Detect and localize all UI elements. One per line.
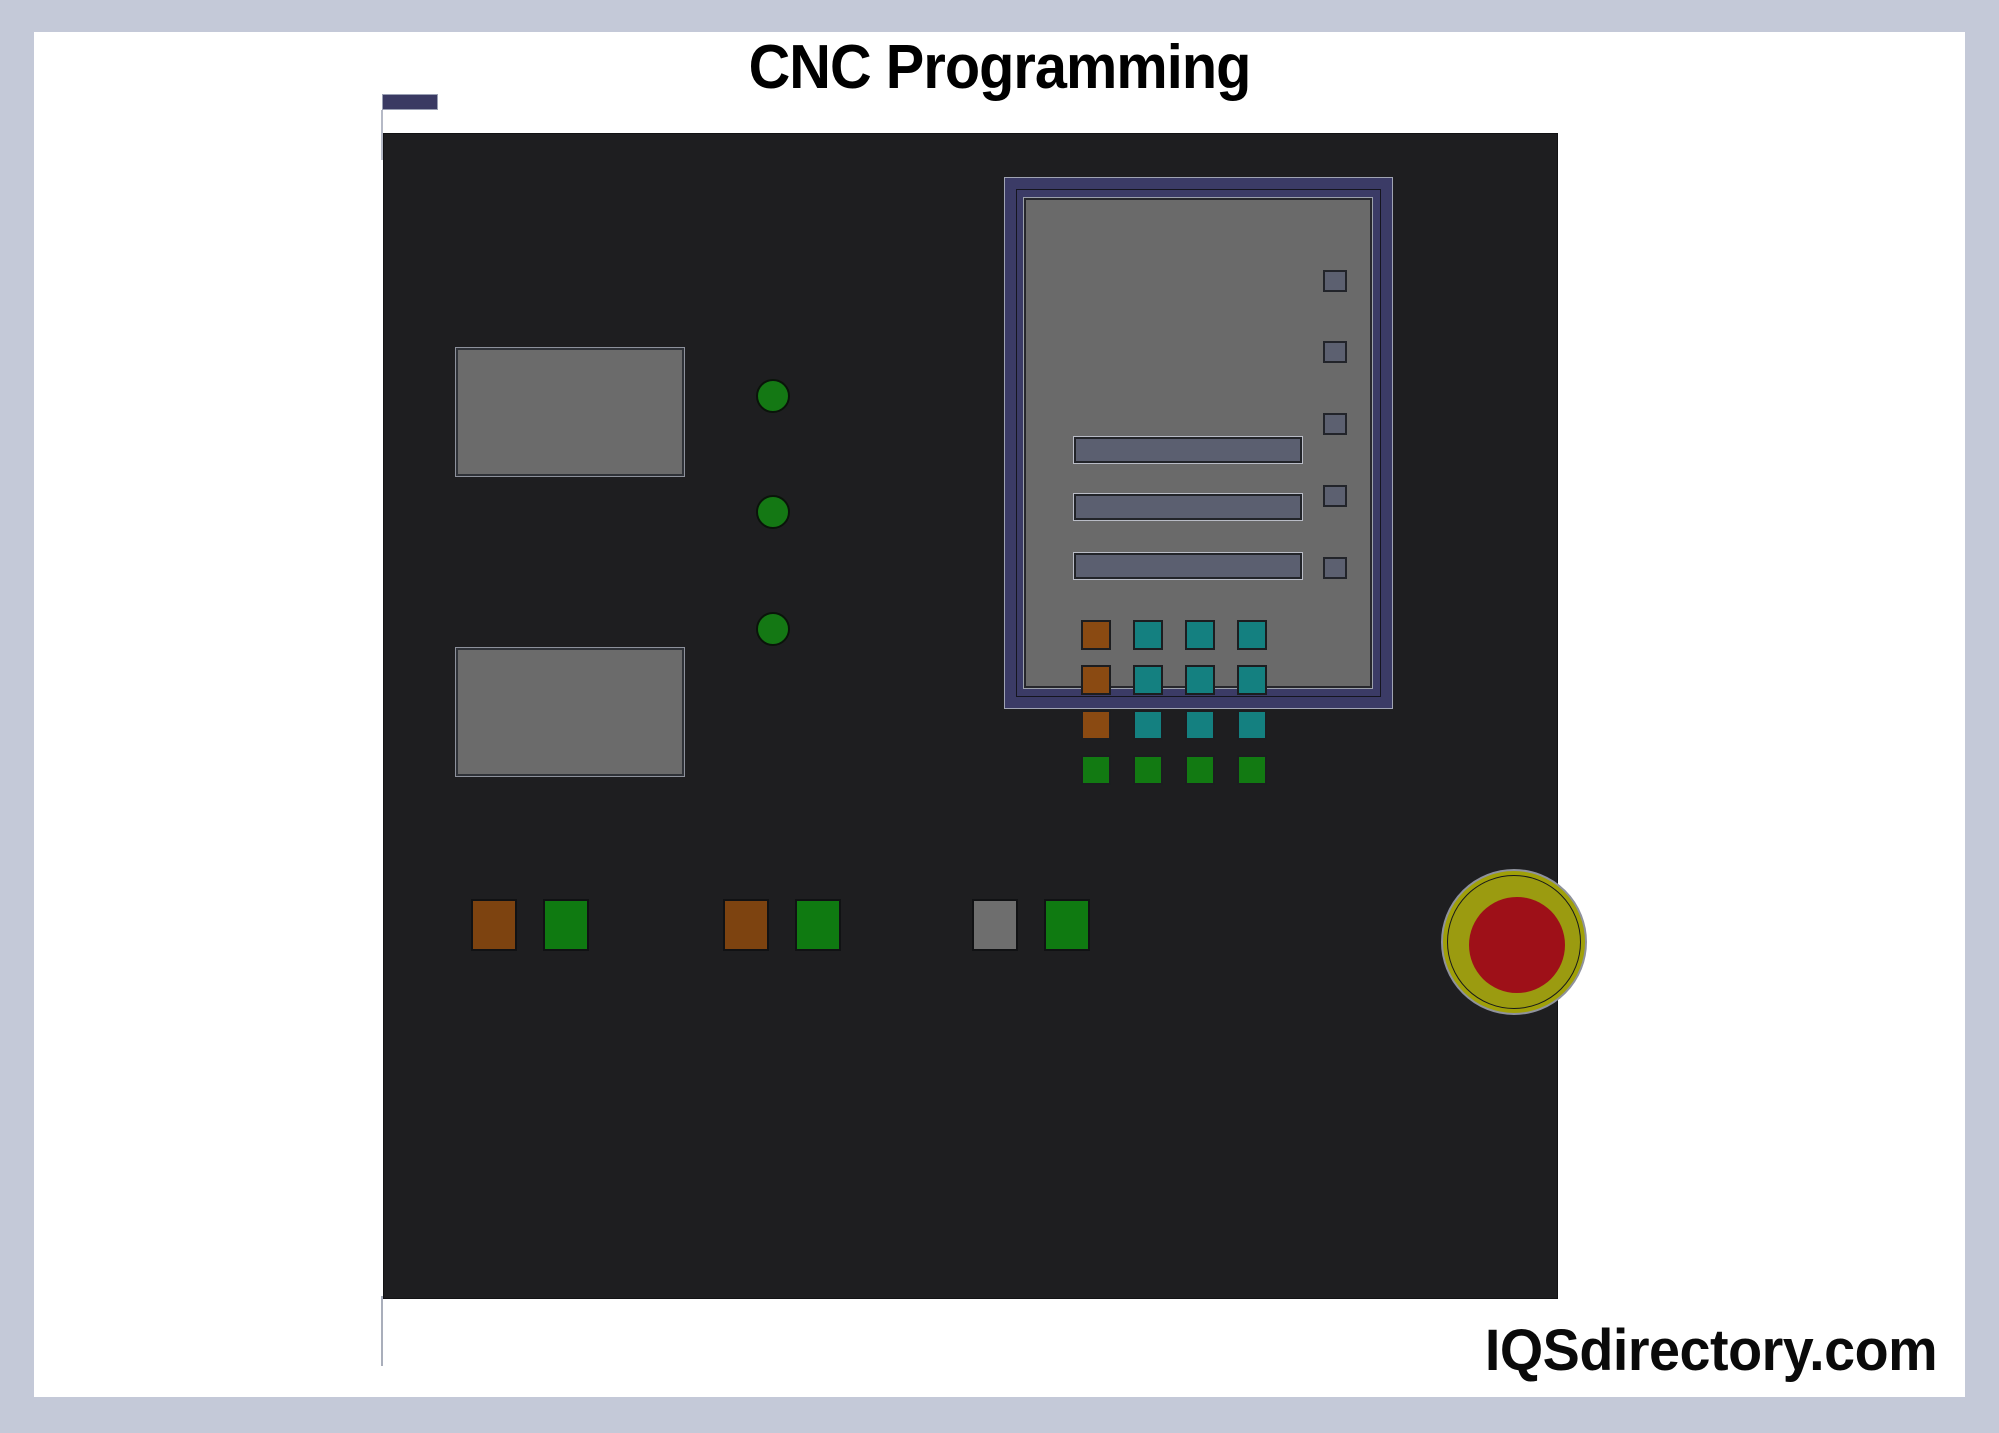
keypad-key-r3c2[interactable] — [1133, 710, 1163, 740]
cnc-control-panel — [383, 133, 1558, 1299]
bottom-button-6[interactable] — [1044, 899, 1090, 951]
slot-bar-2[interactable] — [1074, 494, 1302, 520]
screenshot-root: CNC Programming — [0, 0, 1999, 1433]
upper-display-screen — [456, 348, 684, 476]
emergency-stop-button[interactable] — [1441, 869, 1587, 1015]
keypad-key-r2c3[interactable] — [1185, 665, 1215, 695]
bottom-button-4[interactable] — [795, 899, 841, 951]
side-button-2[interactable] — [1323, 341, 1347, 363]
keypad-key-r4c1[interactable] — [1081, 755, 1111, 785]
page-title: CNC Programming — [70, 32, 1929, 103]
emergency-stop-cap — [1469, 897, 1565, 993]
keypad-grid — [1081, 620, 1289, 800]
slot-bar-1[interactable] — [1074, 437, 1302, 463]
keypad-key-r2c1[interactable] — [1081, 665, 1111, 695]
watermark-text: IQSdirectory.com — [1485, 1317, 1937, 1384]
frame-border-top — [34, 0, 1965, 32]
keypad-key-r3c4[interactable] — [1237, 710, 1267, 740]
frame-border-bottom — [34, 1397, 1965, 1433]
bottom-button-3[interactable] — [723, 899, 769, 951]
keypad-key-r3c3[interactable] — [1185, 710, 1215, 740]
frame-border-right — [1965, 0, 1999, 1433]
indicator-light-2 — [756, 495, 790, 529]
bottom-button-5[interactable] — [972, 899, 1018, 951]
callout-tab-marker — [382, 94, 438, 110]
frame-border-left — [0, 0, 34, 1433]
keypad-key-r3c1[interactable] — [1081, 710, 1111, 740]
side-button-1[interactable] — [1323, 270, 1347, 292]
keypad-key-r4c4[interactable] — [1237, 755, 1267, 785]
keypad-key-r4c3[interactable] — [1185, 755, 1215, 785]
slot-bar-3[interactable] — [1074, 553, 1302, 579]
keypad-key-r1c4[interactable] — [1237, 620, 1267, 650]
bottom-button-1[interactable] — [471, 899, 517, 951]
side-button-3[interactable] — [1323, 413, 1347, 435]
lower-display-screen — [456, 648, 684, 776]
indicator-light-1 — [756, 379, 790, 413]
keypad-key-r1c3[interactable] — [1185, 620, 1215, 650]
side-button-4[interactable] — [1323, 485, 1347, 507]
side-button-5[interactable] — [1323, 557, 1347, 579]
keypad-key-r1c2[interactable] — [1133, 620, 1163, 650]
callout-leader-line-bottom — [381, 1296, 383, 1366]
bottom-button-2[interactable] — [543, 899, 589, 951]
keypad-key-r2c2[interactable] — [1133, 665, 1163, 695]
keypad-key-r4c2[interactable] — [1133, 755, 1163, 785]
keypad-key-r1c1[interactable] — [1081, 620, 1111, 650]
emergency-stop-ring — [1447, 875, 1581, 1009]
keypad-key-r2c4[interactable] — [1237, 665, 1267, 695]
indicator-light-3 — [756, 612, 790, 646]
